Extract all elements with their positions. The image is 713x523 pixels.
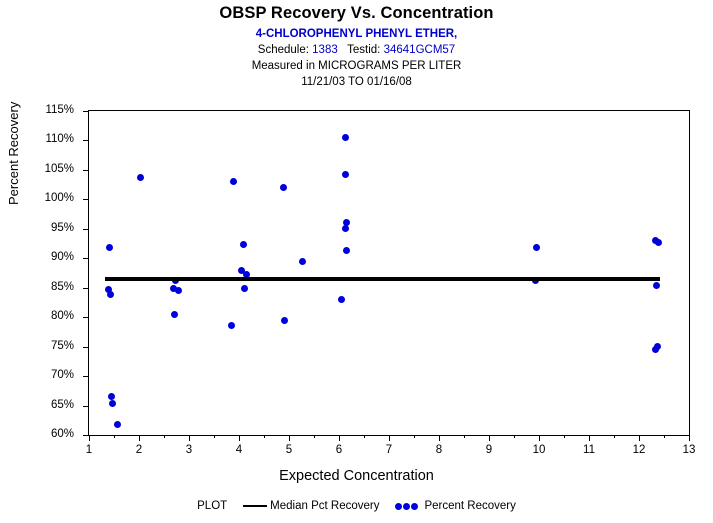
x-tick-minor: [464, 435, 465, 438]
y-tick-label: 90%: [51, 251, 74, 263]
legend: PLOT Median Pct Recovery Percent Recover…: [0, 500, 713, 512]
x-tick: [389, 435, 390, 441]
y-tick: 75%: [83, 347, 89, 348]
data-point: [342, 225, 349, 232]
x-tick-minor: [264, 435, 265, 438]
legend-median-label: Median Pct Recovery: [270, 500, 379, 512]
data-point: [114, 421, 121, 428]
data-point: [240, 241, 247, 248]
y-tick: 110%: [83, 140, 89, 141]
x-tick-label: 13: [683, 444, 696, 456]
y-tick: 100%: [83, 199, 89, 200]
x-tick-label: 2: [136, 444, 142, 456]
x-tick-label: 10: [533, 444, 546, 456]
plot-frame: 60%65%70%75%80%85%90%95%100%105%110%115%…: [88, 110, 690, 436]
y-tick-label: 70%: [51, 369, 74, 381]
legend-item-median: Median Pct Recovery: [243, 500, 379, 512]
x-tick-minor: [564, 435, 565, 438]
line-swatch-icon: [243, 505, 267, 507]
x-tick-label: 8: [436, 444, 442, 456]
y-tick: 65%: [83, 406, 89, 407]
x-tick-minor: [664, 435, 665, 438]
x-tick-label: 5: [286, 444, 292, 456]
x-tick-label: 4: [236, 444, 242, 456]
plot-area: Percent Recovery 60%65%70%75%80%85%90%95…: [0, 0, 713, 523]
x-tick: [639, 435, 640, 441]
data-point: [171, 311, 178, 318]
x-tick-minor: [214, 435, 215, 438]
legend-item-points: Percent Recovery: [395, 500, 515, 512]
x-tick-label: 9: [486, 444, 492, 456]
x-axis-title: Expected Concentration: [0, 468, 713, 484]
x-tick: [689, 435, 690, 441]
data-point: [533, 244, 540, 251]
y-tick: 95%: [83, 229, 89, 230]
x-tick-label: 7: [386, 444, 392, 456]
data-point: [338, 296, 345, 303]
x-tick-label: 12: [633, 444, 646, 456]
dots-swatch-icon: [395, 502, 421, 510]
x-tick: [489, 435, 490, 441]
data-point: [299, 258, 306, 265]
y-tick-label: 60%: [51, 428, 74, 440]
median-line: [105, 277, 660, 281]
x-tick: [139, 435, 140, 441]
y-tick-label: 65%: [51, 399, 74, 411]
x-tick: [439, 435, 440, 441]
x-tick-minor: [114, 435, 115, 438]
data-point: [230, 178, 237, 185]
y-tick: 70%: [83, 376, 89, 377]
y-tick-label: 95%: [51, 222, 74, 234]
x-tick-minor: [164, 435, 165, 438]
y-tick-label: 115%: [45, 104, 74, 116]
y-tick: 80%: [83, 317, 89, 318]
data-point: [343, 247, 350, 254]
legend-points-label: Percent Recovery: [424, 500, 515, 512]
data-point: [655, 239, 662, 246]
x-tick-minor: [364, 435, 365, 438]
x-tick-minor: [314, 435, 315, 438]
data-point: [109, 400, 116, 407]
data-point: [107, 291, 114, 298]
data-point: [281, 317, 288, 324]
x-tick-label: 1: [86, 444, 92, 456]
x-tick-minor: [514, 435, 515, 438]
data-point: [175, 287, 182, 294]
y-tick: 105%: [83, 170, 89, 171]
y-tick-label: 100%: [45, 192, 74, 204]
x-tick: [189, 435, 190, 441]
data-point: [228, 322, 235, 329]
data-point: [342, 134, 349, 141]
x-tick-minor: [614, 435, 615, 438]
x-tick: [339, 435, 340, 441]
y-tick: 85%: [83, 288, 89, 289]
x-tick-minor: [414, 435, 415, 438]
x-tick: [289, 435, 290, 441]
data-point: [280, 184, 287, 191]
x-tick: [239, 435, 240, 441]
x-tick: [539, 435, 540, 441]
y-axis-title: Percent Recovery: [6, 102, 21, 205]
data-point: [137, 174, 144, 181]
y-tick-label: 85%: [51, 281, 74, 293]
x-tick: [589, 435, 590, 441]
y-tick: 90%: [83, 258, 89, 259]
y-tick-label: 110%: [45, 133, 74, 145]
data-point: [106, 244, 113, 251]
data-point: [342, 171, 349, 178]
y-tick-label: 75%: [51, 340, 74, 352]
data-point: [241, 285, 248, 292]
y-tick-label: 105%: [45, 163, 74, 175]
data-point: [652, 346, 659, 353]
x-tick-label: 6: [336, 444, 342, 456]
x-tick-label: 3: [186, 444, 192, 456]
y-tick: 115%: [83, 111, 89, 112]
data-point: [108, 393, 115, 400]
x-tick-label: 11: [583, 444, 595, 456]
legend-plot-label: PLOT: [197, 500, 227, 512]
data-point: [653, 282, 660, 289]
y-tick-label: 80%: [51, 310, 74, 322]
x-tick: [89, 435, 90, 441]
